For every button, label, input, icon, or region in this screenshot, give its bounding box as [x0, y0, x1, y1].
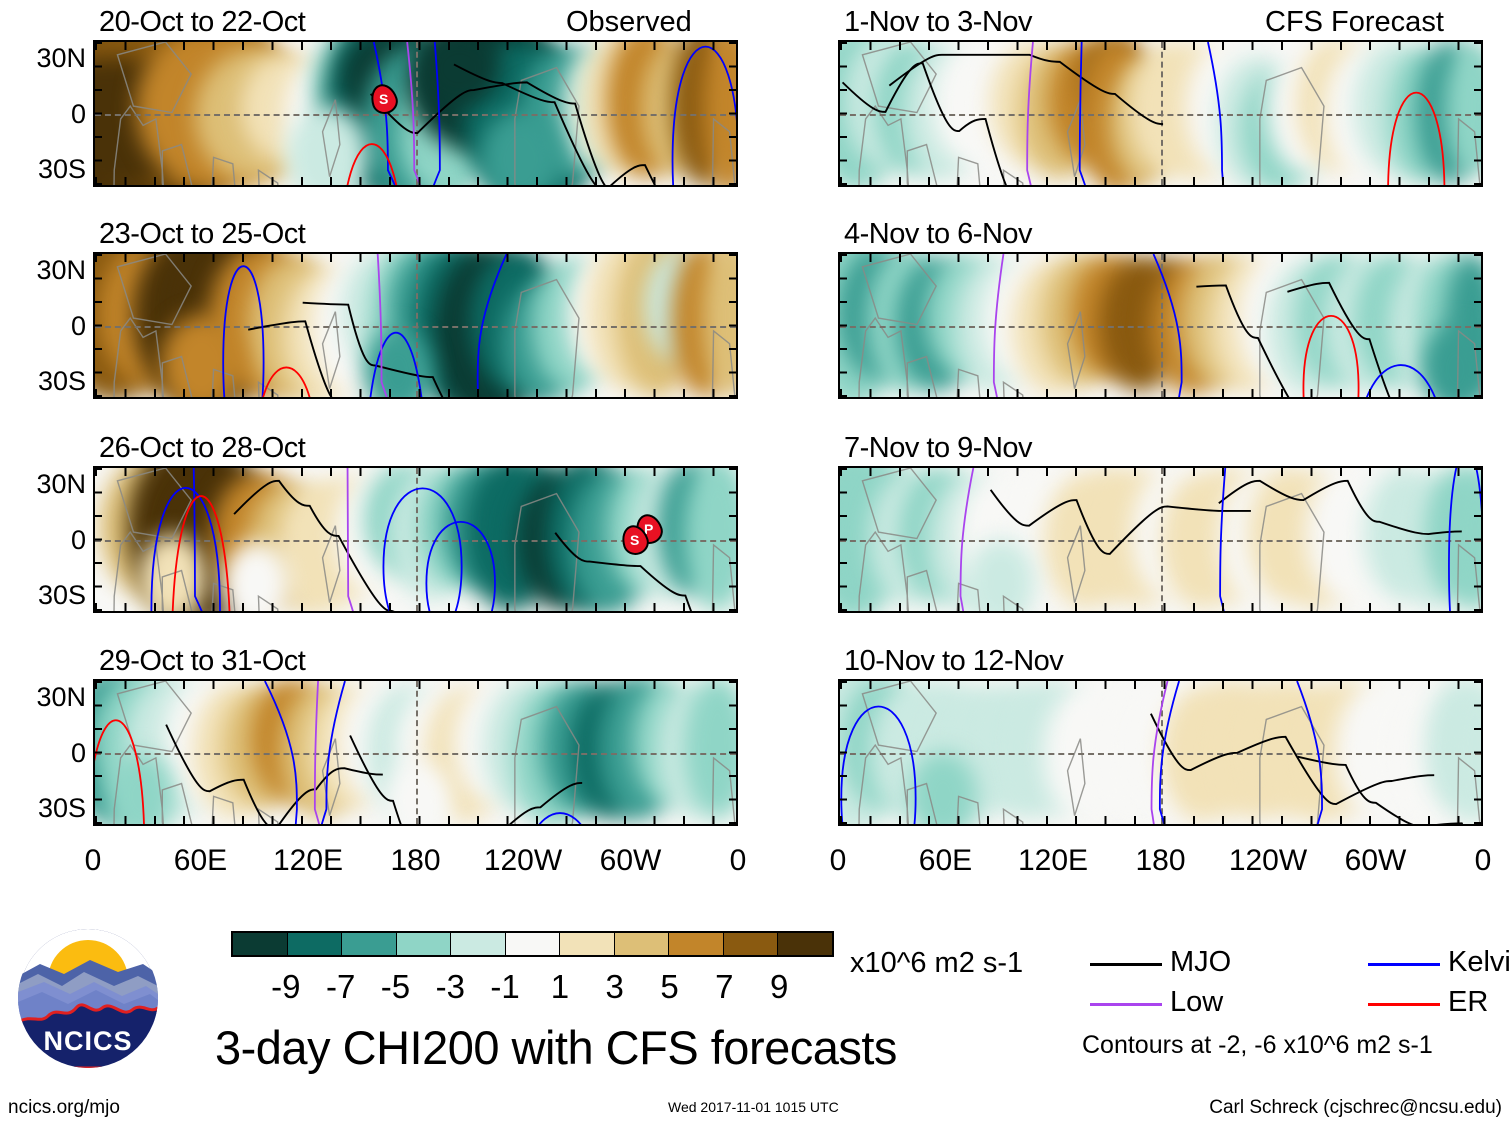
map-panel-fcst-4[interactable] [838, 679, 1483, 826]
y-tick-label: 0 [0, 527, 86, 554]
panel-title-fcst-4: 10-Nov to 12-Nov [844, 647, 1063, 676]
storm-marker-label: S [379, 91, 388, 107]
axis-ticks [840, 42, 847, 185]
axis-ticks [840, 42, 1481, 50]
axis-ticks [95, 816, 736, 824]
y-tick-label: 30S [0, 156, 86, 183]
y-tick-label: 30S [0, 582, 86, 609]
svg-text:NCICS: NCICS [43, 1026, 132, 1056]
x-tick-label: 180 [1101, 846, 1221, 876]
column-header-cfs-forecast: CFS Forecast [1265, 8, 1444, 37]
colorbar-swatch [506, 933, 561, 955]
legend-line-er [1368, 1003, 1440, 1006]
y-tick-label: 30N [0, 257, 86, 284]
axis-ticks [729, 42, 736, 185]
axis-ticks [729, 254, 736, 397]
ncics-logo[interactable]: NCICS [18, 928, 158, 1068]
colorbar-swatch [397, 933, 452, 955]
y-tick-label: 0 [0, 101, 86, 128]
column-header-observed: Observed [566, 8, 692, 37]
panel-title-fcst-3: 7-Nov to 9-Nov [844, 434, 1032, 463]
axis-ticks [840, 468, 1481, 476]
colorbar-swatch [724, 933, 779, 955]
x-tick-label: 60W [1316, 846, 1436, 876]
map-panel-fcst-3[interactable] [838, 466, 1483, 613]
axis-ticks [1474, 468, 1481, 611]
ncics-logo-graphic: NCICS [18, 928, 158, 1068]
axis-ticks [840, 389, 1481, 397]
panel-title-obs-1: 20-Oct to 22-Oct [99, 8, 305, 37]
wave-contour-overlay [95, 254, 736, 399]
axis-ticks [95, 468, 736, 476]
axis-ticks [1474, 681, 1481, 824]
x-tick-label: 0 [1423, 846, 1510, 876]
panel-title-fcst-1: 1-Nov to 3-Nov [844, 8, 1032, 37]
footer-timestamp: Wed 2017-11-01 1015 UTC [668, 1100, 839, 1114]
x-tick-label: 120W [1208, 846, 1328, 876]
axis-ticks [729, 468, 736, 611]
y-tick-label: 0 [0, 740, 86, 767]
axis-ticks [95, 254, 102, 397]
axis-ticks [95, 681, 102, 824]
axis-ticks [840, 254, 1481, 262]
y-tick-label: 30N [0, 471, 86, 498]
page-title: 3-day CHI200 with CFS forecasts [215, 1024, 897, 1071]
map-panel-obs-2[interactable] [93, 252, 738, 399]
legend-label-low: Low [1170, 988, 1223, 1017]
x-tick-label: 120E [993, 846, 1113, 876]
axis-ticks [95, 42, 102, 185]
colorbar [231, 931, 834, 957]
x-tick-label: 120E [248, 846, 368, 876]
colorbar-swatch [560, 933, 615, 955]
legend-label-er: ER [1448, 988, 1488, 1017]
axis-ticks [1474, 42, 1481, 185]
axis-ticks [840, 468, 847, 611]
axis-ticks [95, 389, 736, 397]
axis-ticks [95, 603, 736, 611]
axis-ticks [840, 254, 847, 397]
legend-line-mjo [1090, 963, 1162, 966]
legend-label-mjo: MJO [1170, 948, 1231, 977]
panel-title-obs-3: 26-Oct to 28-Oct [99, 434, 305, 463]
x-tick-label: 0 [33, 846, 153, 876]
wave-contour-overlay [95, 681, 736, 826]
axis-ticks [95, 42, 736, 50]
panel-title-fcst-2: 4-Nov to 6-Nov [844, 220, 1032, 249]
axis-ticks [840, 681, 1481, 689]
axis-ticks [840, 603, 1481, 611]
map-panel-obs-1[interactable]: S [93, 40, 738, 187]
map-panel-fcst-1[interactable] [838, 40, 1483, 187]
y-tick-label: 30S [0, 368, 86, 395]
axis-ticks [95, 468, 102, 611]
axis-ticks [95, 681, 736, 689]
colorbar-swatch [669, 933, 724, 955]
colorbar-tick-label: 9 [744, 970, 814, 1003]
map-panel-obs-4[interactable] [93, 679, 738, 826]
y-tick-label: 30N [0, 684, 86, 711]
colorbar-swatch [615, 933, 670, 955]
colorbar-swatch [778, 933, 832, 955]
storm-marker-label: S [630, 532, 639, 548]
contour-note: Contours at -2, -6 x10^6 m2 s-1 [1082, 1033, 1433, 1058]
x-tick-label: 120W [463, 846, 583, 876]
x-tick-label: 0 [778, 846, 898, 876]
x-tick-label: 60W [571, 846, 691, 876]
wave-contour-overlay [840, 42, 1481, 187]
colorbar-swatch [288, 933, 343, 955]
wave-contour-overlay [840, 681, 1481, 826]
x-tick-label: 180 [356, 846, 476, 876]
y-tick-label: 30N [0, 45, 86, 72]
colorbar-units-label: x10^6 m2 s-1 [850, 949, 1023, 978]
axis-ticks [840, 177, 1481, 185]
y-tick-label: 0 [0, 313, 86, 340]
colorbar-swatch [233, 933, 288, 955]
axis-ticks [95, 254, 736, 262]
legend-label-kelvin-x2: Kelvin x2 [1448, 948, 1510, 977]
footer-author: Carl Schreck (cjschrec@ncsu.edu) [1209, 1098, 1502, 1117]
axis-ticks [840, 681, 847, 824]
wave-contour-overlay [840, 468, 1481, 613]
legend-line-kelvin-x2 [1368, 963, 1440, 966]
axis-ticks [1474, 254, 1481, 397]
map-panel-obs-3[interactable]: PS [93, 466, 738, 613]
y-tick-label: 30S [0, 795, 86, 822]
x-tick-label: 60E [141, 846, 261, 876]
wave-contour-overlay [95, 42, 736, 187]
legend-line-low [1090, 1003, 1162, 1006]
panel-title-obs-2: 23-Oct to 25-Oct [99, 220, 305, 249]
colorbar-swatch [451, 933, 506, 955]
wave-contour-overlay [840, 254, 1481, 399]
axis-ticks [840, 816, 1481, 824]
footer-site-link[interactable]: ncics.org/mjo [8, 1098, 120, 1117]
colorbar-swatch [342, 933, 397, 955]
x-tick-label: 60E [886, 846, 1006, 876]
axis-ticks [95, 177, 736, 185]
axis-ticks [729, 681, 736, 824]
panel-title-obs-4: 29-Oct to 31-Oct [99, 647, 305, 676]
map-panel-fcst-2[interactable] [838, 252, 1483, 399]
